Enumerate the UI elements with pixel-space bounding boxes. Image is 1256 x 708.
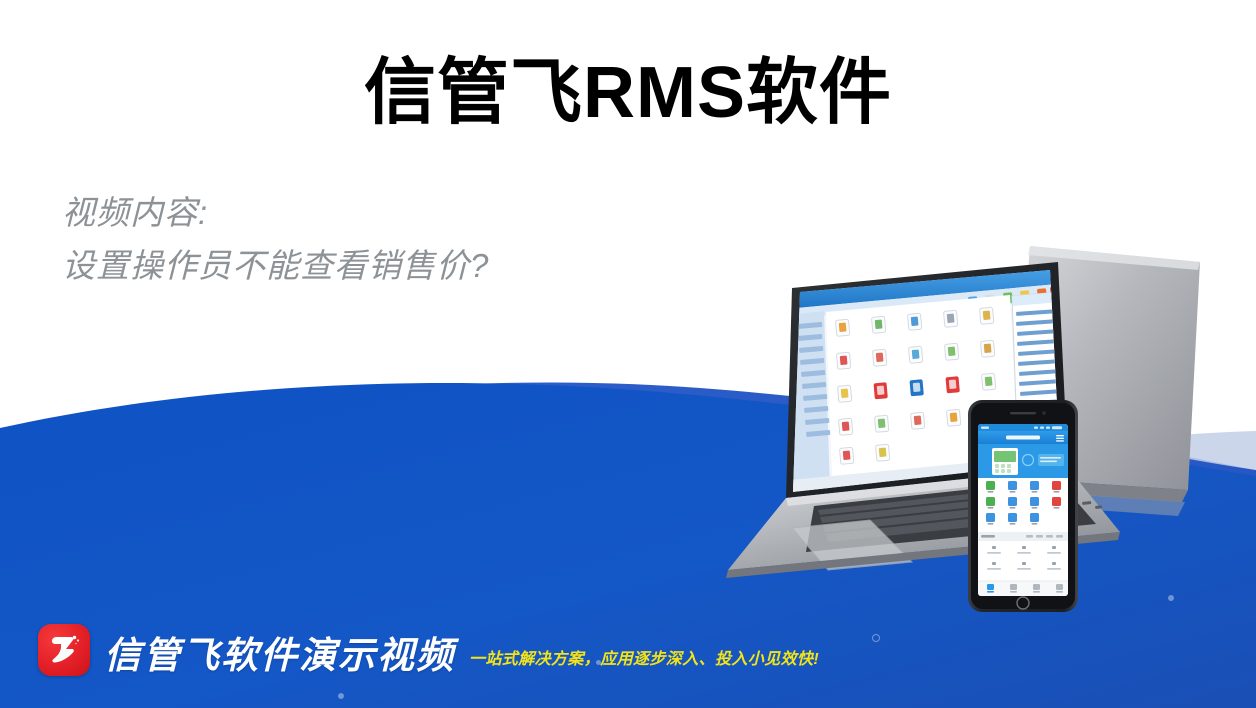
device-illustration-group bbox=[560, 240, 1256, 640]
feiyun-bird-logo-icon bbox=[38, 624, 90, 676]
subtitle-line-1: 视频内容: bbox=[62, 194, 208, 231]
brand-bar: 信管飞软件演示视频 一站式解决方案，应用逐步深入、投入小见效快! bbox=[38, 624, 819, 676]
brand-tagline: 一站式解决方案，应用逐步深入、投入小见效快! bbox=[469, 645, 819, 676]
subtitle-line-2: 设置操作员不能查看销售价? bbox=[62, 239, 489, 292]
video-content-description: 视频内容: 设置操作员不能查看销售价? bbox=[62, 186, 489, 293]
slide-canvas: 信管飞RMS软件 视频内容: 设置操作员不能查看销售价? 信管飞软件演示视频 一… bbox=[0, 0, 1256, 708]
page-title: 信管飞RMS软件 bbox=[0, 52, 1256, 135]
smartphone-with-rms-mobile-app bbox=[968, 400, 1078, 612]
decorative-dot-1 bbox=[338, 693, 344, 699]
brand-title: 信管飞软件演示视频 bbox=[104, 637, 455, 676]
